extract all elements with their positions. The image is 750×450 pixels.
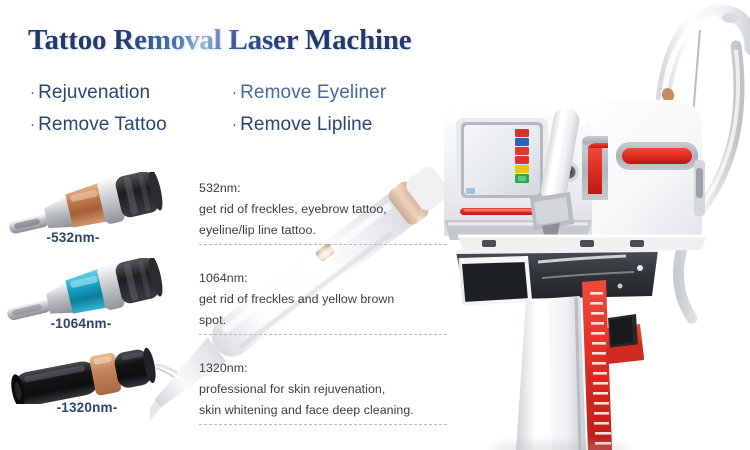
spec-divider bbox=[199, 334, 447, 335]
spec-divider bbox=[199, 424, 447, 425]
feature-label: Remove Lipline bbox=[240, 114, 372, 135]
probe-1064nm-illustration bbox=[0, 258, 190, 320]
bullet-dot-icon: · bbox=[30, 84, 35, 101]
feature-label: Remove Tattoo bbox=[38, 114, 167, 135]
feature-item-remove-lipline: ·Remove Lipline bbox=[232, 114, 372, 136]
spec-line: get rid of freckles, eyebrow tattoo, bbox=[199, 199, 451, 220]
product-marketing-banner: Tattoo Removal Laser Machine Tattoo Remo… bbox=[0, 0, 750, 450]
page-title: Tattoo Removal Laser Machine bbox=[28, 24, 411, 57]
spec-block-1320nm: 1320nm: professional for skin rejuvenati… bbox=[199, 358, 451, 425]
spec-line: spot. bbox=[199, 310, 451, 331]
probe-label-1320nm: -1320nm- bbox=[0, 400, 182, 415]
bullet-dot-icon: · bbox=[232, 116, 237, 133]
spec-divider bbox=[199, 244, 447, 245]
machine-handpiece-holder bbox=[606, 314, 644, 364]
probe-label-1064nm: -1064nm- bbox=[0, 316, 176, 331]
spec-line: get rid of freckles and yellow brown bbox=[199, 289, 451, 310]
probe-label-532nm: -532nm- bbox=[0, 230, 168, 245]
spec-block-1064nm: 1064nm: get rid of freckles and yellow b… bbox=[199, 268, 451, 335]
spec-block-532nm: 532nm: get rid of freckles, eyebrow tatt… bbox=[199, 178, 451, 245]
feature-item-remove-eyeliner: ·Remove Eyeliner bbox=[232, 82, 386, 104]
feature-label: Rejuvenation bbox=[38, 82, 150, 103]
probe-1320nm-illustration bbox=[0, 342, 190, 404]
spec-heading: 532nm: bbox=[199, 178, 451, 199]
bullet-dot-icon: · bbox=[232, 84, 237, 101]
spec-heading: 1320nm: bbox=[199, 358, 451, 379]
spec-line: professional for skin rejuvenation, bbox=[199, 379, 451, 400]
spec-heading: 1064nm: bbox=[199, 268, 451, 289]
machine-height-scale bbox=[582, 280, 612, 450]
spec-line: eyeline/lip line tattoo. bbox=[199, 220, 451, 241]
laser-machine-illustration bbox=[430, 0, 750, 450]
feature-item-rejuvenation: ·Rejuvenation bbox=[30, 82, 150, 104]
feature-label: Remove Eyeliner bbox=[240, 82, 386, 103]
probe-532nm-illustration bbox=[0, 172, 190, 234]
bullet-dot-icon: · bbox=[30, 116, 35, 133]
spec-line: skin whitening and face deep cleaning. bbox=[199, 400, 451, 421]
feature-item-remove-tattoo: ·Remove Tattoo bbox=[30, 114, 167, 136]
